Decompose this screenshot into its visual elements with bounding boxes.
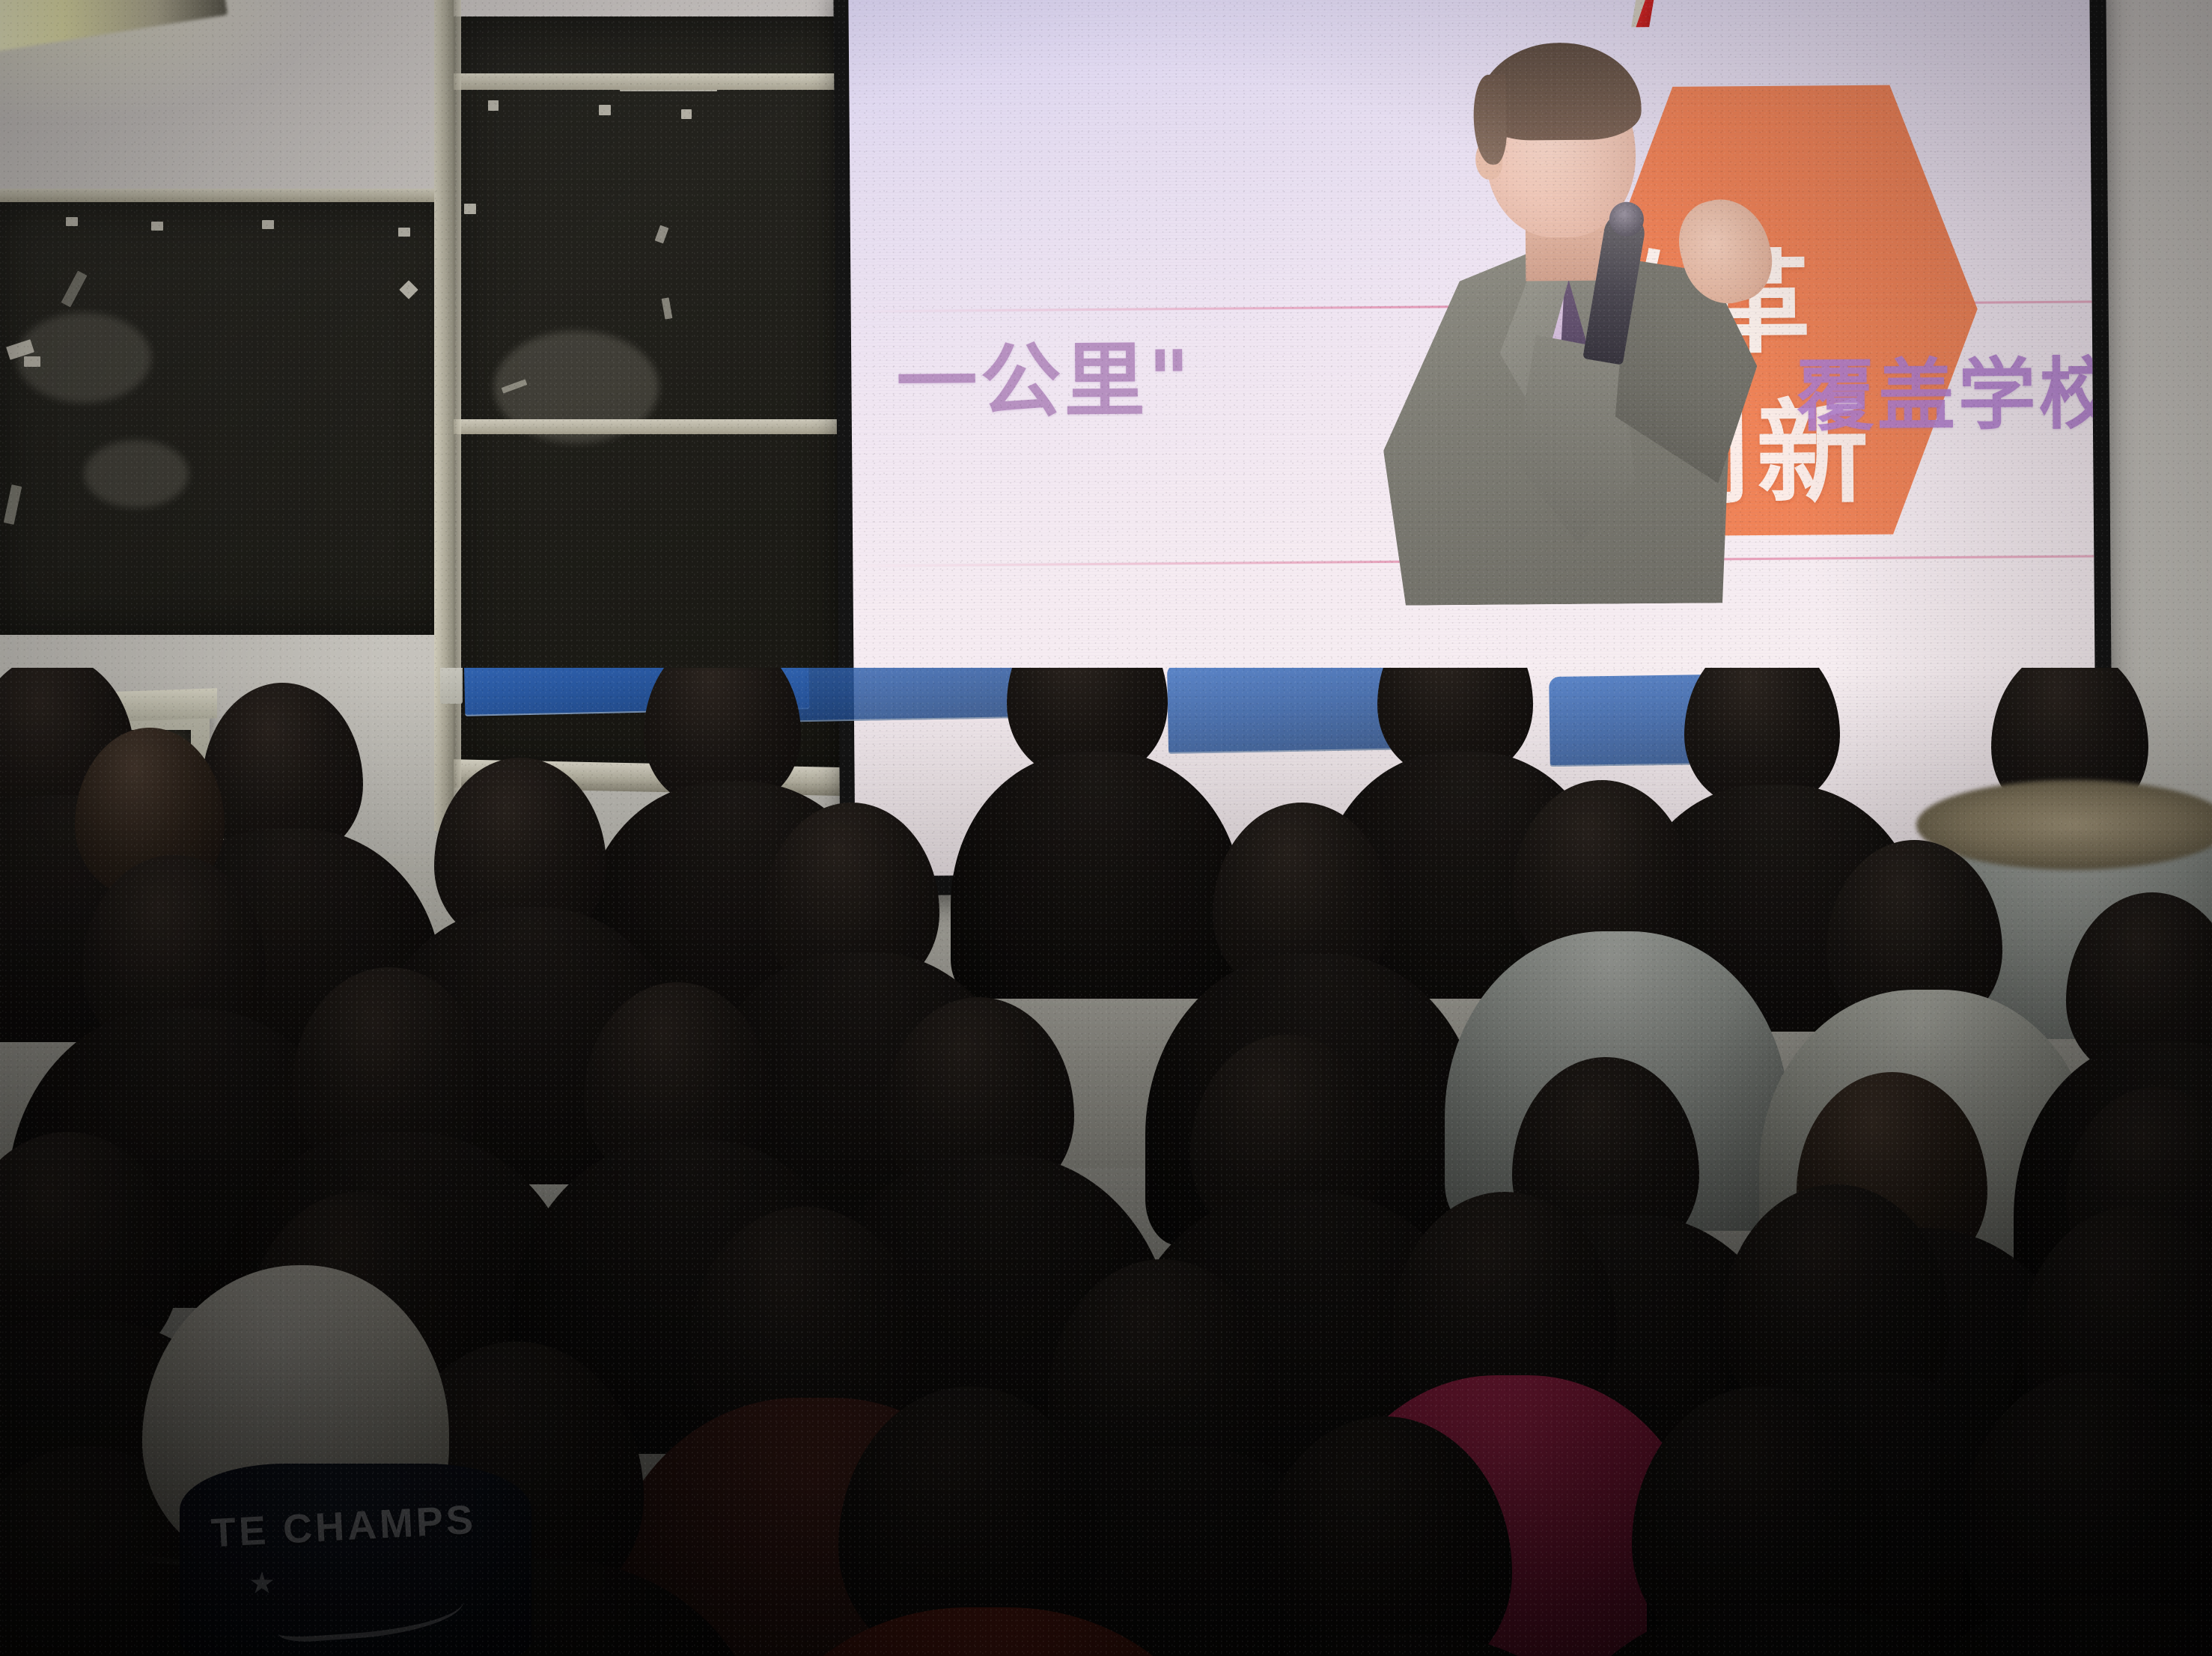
chalkboard-mid-rail [449,419,868,434]
seat-back [770,668,1019,722]
presenter-figure [1365,11,1789,598]
chalkboard-center [449,16,868,780]
photo-scene: 改革 创新 一公里" 覆盖学校主 [0,0,2212,1656]
slide-text-left: 一公里" [896,315,1193,434]
chalkboard-top-rail [449,73,868,90]
chalkboard-left [0,201,458,635]
seat-back [1167,668,1408,754]
water-bottle-icon [440,668,463,704]
presenter-hair [1478,42,1642,141]
audience-shoulders [951,752,1243,999]
sweatshirt-star-icon: ★ [249,1566,275,1601]
slide-text-right: 覆盖学校主 [1796,329,2097,445]
